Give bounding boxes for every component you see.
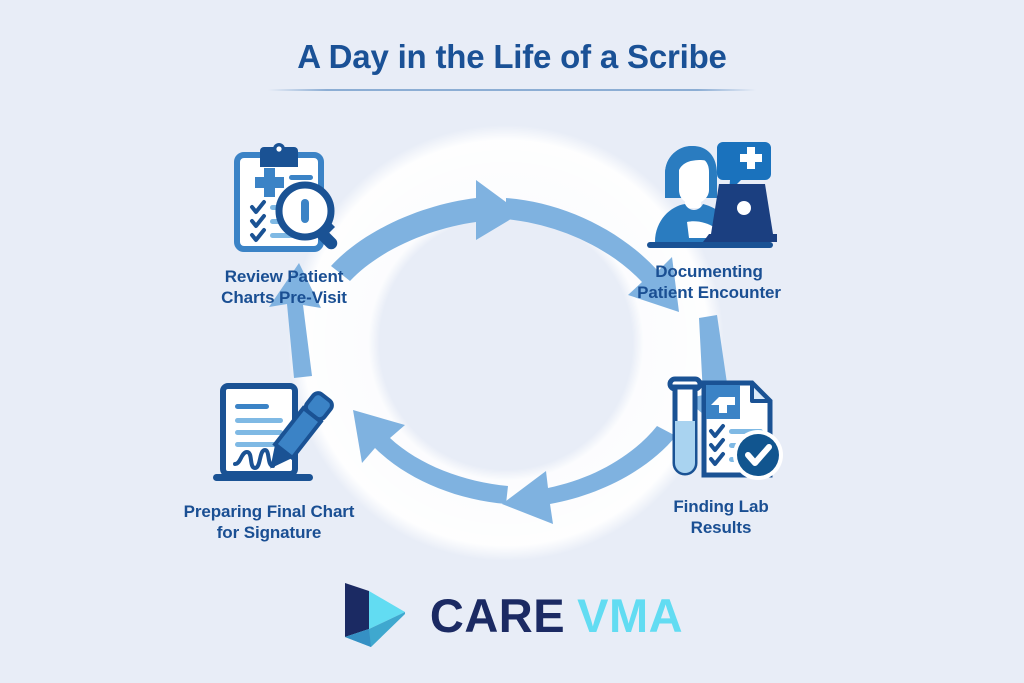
cycle-step-label: Review Patient Charts Pre-Visit [169,266,399,309]
care-vma-logo-mark-icon [341,579,409,651]
cycle-step-label: Documenting Patient Encounter [594,261,824,304]
step-label-line2: Patient Encounter [637,283,781,302]
title-underline-rule [268,89,756,91]
title-block: A Day in the Life of a Scribe [0,38,1024,91]
step-label-line1: Finding Lab [673,497,768,516]
test-tube [670,379,700,473]
logo-wordmark: CAREVMA [430,592,683,639]
step-label-line2: for Signature [217,523,322,542]
step-label-line2: Results [691,518,752,537]
step-label-line1: Preparing Final Chart [184,502,355,521]
cycle-step-preparing-final-chart[interactable]: Preparing Final Chart for Signature [154,378,384,544]
cycle-step-documenting-encounter[interactable]: Documenting Patient Encounter [594,138,824,304]
clipboard-magnifier-icon [169,143,399,255]
cycle-step-label: Preparing Final Chart for Signature [154,501,384,544]
test-tube-report-check-icon [606,373,836,485]
cycle-step-label: Finding Lab Results [606,496,836,539]
step-label-line1: Review Patient [225,267,344,286]
logo-text-vma: VMA [577,589,683,642]
brand-logo[interactable]: CAREVMA [0,579,1024,651]
step-label-line1: Documenting [655,262,763,281]
cycle-step-finding-lab-results[interactable]: Finding Lab Results [606,373,836,539]
check-badge-icon [733,430,783,480]
step-label-line2: Charts Pre-Visit [221,288,347,307]
cycle-step-review-patient-charts[interactable]: Review Patient Charts Pre-Visit [169,143,399,309]
person-laptop-icon [594,138,824,250]
signed-document-pen-icon [154,378,384,490]
page-title: A Day in the Life of a Scribe [0,38,1024,76]
process-cycle: Review Patient Charts Pre-Visit [176,118,836,568]
logo-text-care: CARE [430,589,565,642]
infographic-canvas: A Day in the Life of a Scribe [0,0,1024,683]
